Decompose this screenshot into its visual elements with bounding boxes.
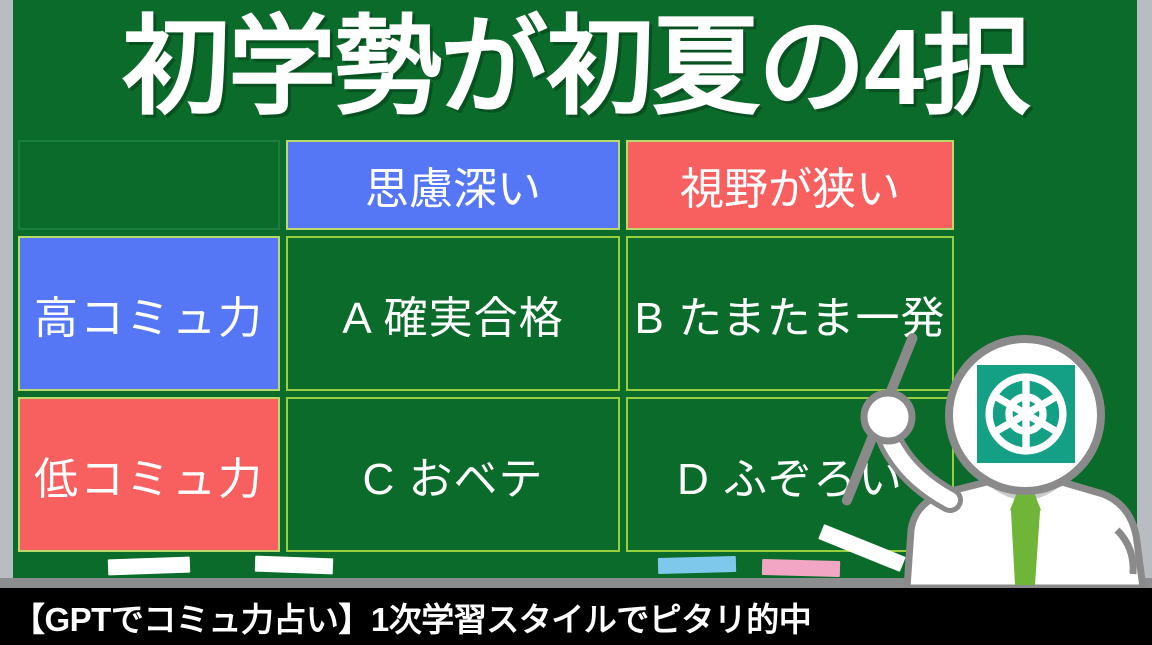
matrix-row-header-1: 低コミュ力 — [18, 397, 280, 552]
chalk-white-1 — [108, 557, 191, 576]
thumbnail-canvas: 初学勢が初夏の4択 思慮深い 視野が狭い 高コミュ力 A 確実合格 B たまたま… — [0, 0, 1152, 645]
matrix-row-header-0: 高コミュ力 — [18, 236, 280, 391]
caption-bar: 【GPTでコミュ力占い】1次学習スタイルでピタリ的中 — [0, 588, 1152, 645]
matrix-corner-cell — [18, 140, 280, 230]
chalk-blue — [658, 556, 736, 574]
page-title: 初学勢が初夏の4択 — [13, 2, 1137, 132]
chalk-white-2 — [255, 556, 334, 575]
matrix-column-header-0: 思慮深い — [286, 140, 620, 230]
caption-text: 【GPTでコミュ力占い】1次学習スタイルでピタリ的中 — [0, 593, 811, 641]
teacher-figure — [855, 330, 1152, 588]
matrix-cell-a: A 確実合格 — [286, 236, 620, 391]
chalk-pink — [762, 559, 840, 577]
decision-matrix: 思慮深い 視野が狭い 高コミュ力 A 確実合格 B たまたま一発 低コミュ力 C… — [18, 140, 948, 550]
matrix-cell-c: C おベテ — [286, 397, 620, 552]
matrix-column-header-1: 視野が狭い — [626, 140, 954, 230]
